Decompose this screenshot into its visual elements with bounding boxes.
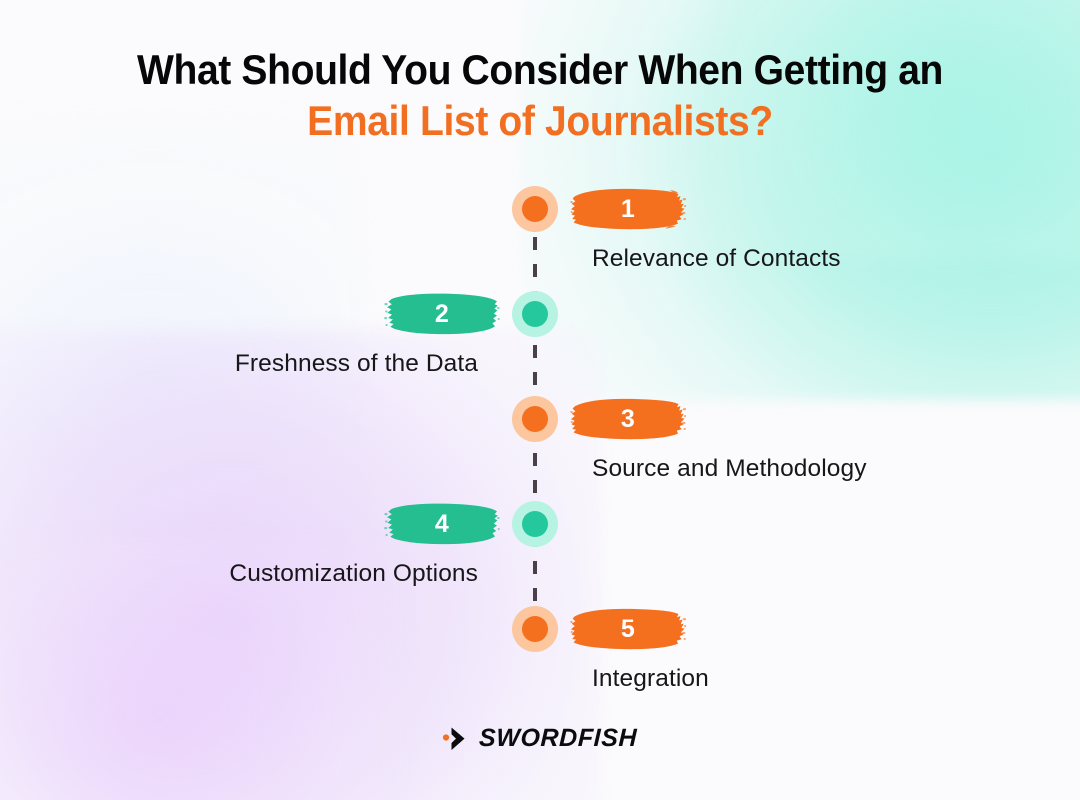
timeline-node-4	[512, 501, 558, 547]
timeline-badge-2: 2	[384, 291, 500, 337]
timeline-badge-number-5: 5	[621, 617, 635, 642]
infographic-canvas: What Should You Consider When Getting an…	[0, 0, 1080, 800]
timeline-node-core-5	[522, 616, 548, 642]
brand-logo-text: SWORDFISH	[479, 724, 638, 753]
timeline-node-5	[512, 606, 558, 652]
timeline-badge-number-2: 2	[435, 302, 449, 327]
timeline-label-3: Source and Methodology	[592, 454, 867, 483]
timeline-node-2	[512, 291, 558, 337]
timeline-node-3	[512, 396, 558, 442]
timeline-item-2: 2 Freshness of the Data	[0, 291, 1080, 397]
timeline-item-3: 3 Source and Methodology	[0, 396, 1080, 502]
timeline-node-core-1	[522, 196, 548, 222]
chevron-right-icon	[442, 726, 470, 752]
brand-logo: SWORDFISH	[0, 724, 1080, 753]
timeline-label-1: Relevance of Contacts	[592, 244, 841, 273]
timeline-node-core-4	[522, 511, 548, 537]
timeline-node-core-3	[522, 406, 548, 432]
timeline-badge-4: 4	[384, 501, 500, 547]
timeline: 1 Relevance of Contacts	[0, 186, 1080, 676]
timeline-item-5: 5 Integration	[0, 606, 1080, 712]
timeline-badge-number-3: 3	[621, 407, 635, 432]
timeline-node-1	[512, 186, 558, 232]
page-title-line-1: What Should You Consider When Getting an	[38, 44, 1042, 95]
page-title-line-2: Email List of Journalists?	[38, 95, 1042, 146]
timeline-badge-3: 3	[570, 396, 686, 442]
timeline-label-4: Customization Options	[229, 559, 478, 588]
timeline-item-1: 1 Relevance of Contacts	[0, 186, 1080, 292]
timeline-label-2: Freshness of the Data	[235, 349, 478, 378]
timeline-node-core-2	[522, 301, 548, 327]
timeline-badge-1: 1	[570, 186, 686, 232]
timeline-badge-number-1: 1	[621, 197, 635, 222]
timeline-badge-5: 5	[570, 606, 686, 652]
timeline-badge-number-4: 4	[435, 512, 449, 537]
timeline-label-5: Integration	[592, 664, 709, 693]
page-title: What Should You Consider When Getting an…	[0, 44, 1080, 146]
timeline-item-4: 4 Customization Options	[0, 501, 1080, 607]
